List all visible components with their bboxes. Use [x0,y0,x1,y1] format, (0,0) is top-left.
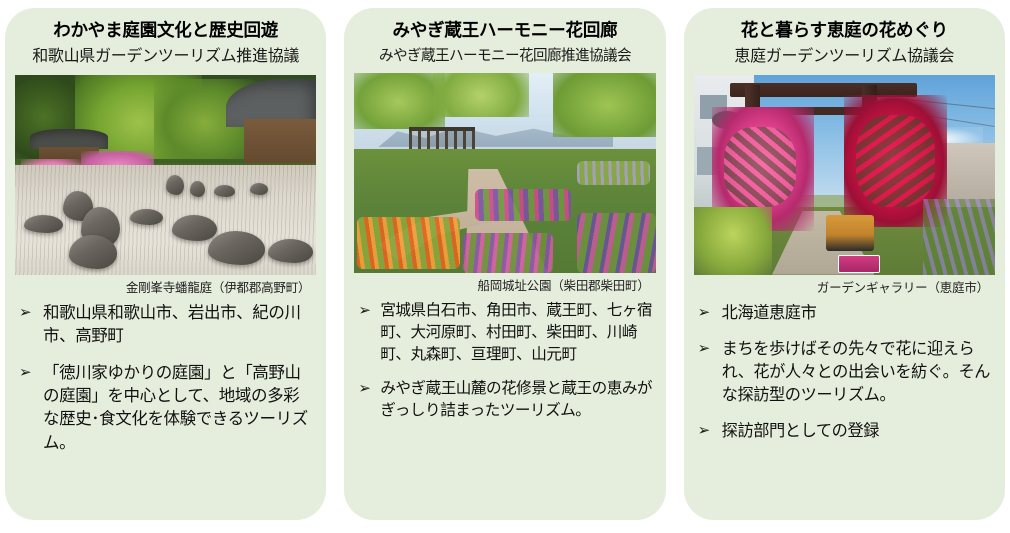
tourism-card-wakayama: わかやま庭園文化と歴史回遊 和歌山県ガーデンツーリズム推進協議 [5,8,326,520]
photo-caption: 金剛峯寺蟠龍庭（伊都郡高野町） [15,275,316,296]
card-title: わかやま庭園文化と歴史回遊 [15,16,316,42]
card-subtitle: 和歌山県ガーデンツーリズム推進協議 [15,47,316,68]
list-item-text: 「徳川家ゆかりの庭園」と「高野山の庭園」を中心として、地域の多彩な歴史･食文化を… [43,362,314,456]
card-photo-wrapper [354,73,655,273]
arrow-bullet-icon: ➢ [698,302,722,325]
list-item-text: まちを歩けばその先々で花に迎えられ、花が人々との出会いを紡ぐ。そんな探訪型のツー… [722,338,993,407]
list-item-text: 探訪部門としての登録 [722,420,993,443]
tourism-card-miyagi-zao: みやぎ蔵王ハーモニー花回廊 みやぎ蔵王ハーモニー花回廊推進協議会 船岡城址公園（… [344,8,665,520]
arrow-bullet-icon: ➢ [19,302,43,325]
list-item: ➢ 和歌山県和歌山市、岩出市、紀の川市、高野町 [19,302,314,349]
photo-rock-garden [15,75,316,275]
list-item-text: 宮城県白石市、角田市、蔵王町、七ヶ宿町、大河原町、村田町、柴田町、川崎町、丸森町… [380,300,653,365]
arrow-bullet-icon: ➢ [358,378,380,401]
arrow-bullet-icon: ➢ [358,300,380,323]
card-bullet-list: ➢ 宮城県白石市、角田市、蔵王町、七ヶ宿町、大河原町、村田町、柴田町、川崎町、丸… [354,300,655,514]
card-title: みやぎ蔵王ハーモニー花回廊 [354,16,655,42]
list-item: ➢ 「徳川家ゆかりの庭園」と「高野山の庭園」を中心として、地域の多彩な歴史･食文… [19,362,314,456]
card-bullet-list: ➢ 北海道恵庭市 ➢ まちを歩けばその先々で花に迎えられ、花が人々との出会いを紡… [694,302,995,514]
arrow-bullet-icon: ➢ [698,420,722,443]
card-photo-wrapper [694,75,995,275]
list-item: ➢ みやぎ蔵王山麓の花修景と蔵王の恵みがぎっしり詰まったツーリズム。 [358,378,653,422]
photo-caption: ガーデンギャラリー（恵庭市） [694,275,995,296]
tourism-card-eniwa: 花と暮らす恵庭の花めぐり 恵庭ガーデンツーリズム協議会 [684,8,1005,520]
list-item: ➢ 宮城県白石市、角田市、蔵王町、七ヶ宿町、大河原町、村田町、柴田町、川崎町、丸… [358,300,653,365]
arrow-bullet-icon: ➢ [19,362,43,385]
list-item: ➢ 北海道恵庭市 [698,302,993,325]
card-photo-wrapper [15,75,316,275]
list-item-text: 和歌山県和歌山市、岩出市、紀の川市、高野町 [43,302,314,349]
arrow-bullet-icon: ➢ [698,338,722,361]
photo-caption: 船岡城址公園（柴田郡柴田町） [354,273,655,294]
list-item-text: 北海道恵庭市 [722,302,993,325]
card-title: 花と暮らす恵庭の花めぐり [694,16,995,42]
list-item: ➢ まちを歩けばその先々で花に迎えられ、花が人々との出会いを紡ぐ。そんな探訪型の… [698,338,993,407]
garden-tourism-card-board: わかやま庭園文化と歴史回遊 和歌山県ガーデンツーリズム推進協議 [0,0,1010,533]
card-bullet-list: ➢ 和歌山県和歌山市、岩出市、紀の川市、高野町 ➢ 「徳川家ゆかりの庭園」と「高… [15,302,316,514]
card-subtitle: 恵庭ガーデンツーリズム協議会 [694,47,995,68]
photo-flower-park [354,73,655,273]
list-item-text: みやぎ蔵王山麓の花修景と蔵王の恵みがぎっしり詰まったツーリズム。 [380,378,653,422]
photo-rose-pergola [694,75,995,275]
card-subtitle: みやぎ蔵王ハーモニー花回廊推進協議会 [354,47,655,66]
list-item: ➢ 探訪部門としての登録 [698,420,993,443]
